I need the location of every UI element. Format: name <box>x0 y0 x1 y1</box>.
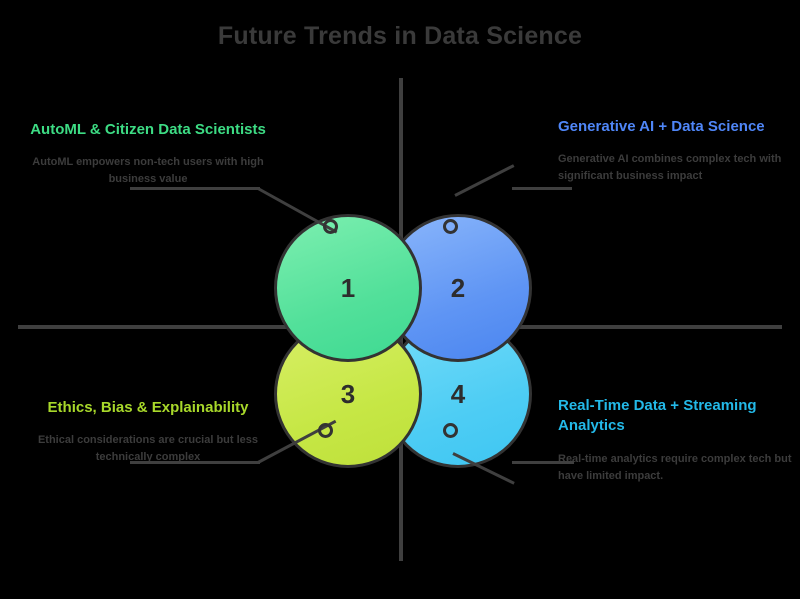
leader-line-bottom-right-horizontal <box>512 461 574 464</box>
quadrant-bottom-left: Ethics, Bias & Explainability Ethical co… <box>28 398 268 466</box>
quadrant-top-right-heading: Generative AI + Data Science <box>558 117 798 137</box>
circle-1[interactable]: 1 <box>274 214 422 362</box>
quadrant-bottom-left-heading: Ethics, Bias & Explainability <box>28 398 268 418</box>
connector-nub-1-icon <box>323 219 338 234</box>
quadrant-bottom-right-body: Real-time analytics require complex tech… <box>558 451 798 485</box>
quadrant-bottom-right-heading: Real-Time Data + Streaming Analytics <box>558 396 798 437</box>
connector-nub-3-icon <box>318 423 333 438</box>
quadrant-top-right-body: Generative AI combines complex tech with… <box>558 151 798 185</box>
venn-circles-group: 1 2 3 4 <box>262 198 538 474</box>
leader-line-top-right-horizontal <box>512 187 572 190</box>
connector-nub-4-icon <box>443 423 458 438</box>
quadrant-bottom-right: Real-Time Data + Streaming Analytics Rea… <box>558 396 798 485</box>
leader-line-bottom-left-horizontal <box>130 461 260 464</box>
quadrant-top-left-body: AutoML empowers non-tech users with high… <box>28 154 268 188</box>
quadrant-top-left-heading: AutoML & Citizen Data Scientists <box>28 120 268 140</box>
leader-line-top-left-horizontal <box>130 187 260 190</box>
quadrant-top-left: AutoML & Citizen Data Scientists AutoML … <box>28 120 268 188</box>
quadrant-top-right: Generative AI + Data Science Generative … <box>558 117 798 185</box>
leader-line-top-right-diagonal <box>454 164 514 197</box>
page-title: Future Trends in Data Science <box>0 22 800 51</box>
infographic-canvas: Future Trends in Data Science 1 2 3 4 Au… <box>0 0 800 599</box>
connector-nub-2-icon <box>443 219 458 234</box>
